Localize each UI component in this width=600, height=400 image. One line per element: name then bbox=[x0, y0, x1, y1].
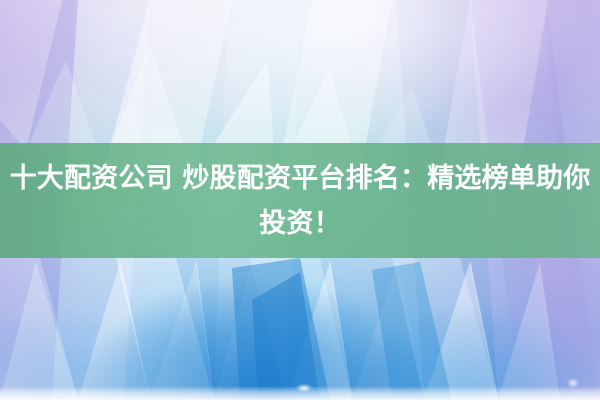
promo-banner: 十大配资公司 炒股配资平台排名：精选榜单助你投资！ bbox=[0, 0, 600, 400]
sparkle-glow-right-icon bbox=[562, 374, 584, 392]
page-title: 十大配资公司 炒股配资平台排名：精选榜单助你投资！ bbox=[0, 156, 600, 246]
headline-band: 十大配资公司 炒股配资平台排名：精选榜单助你投资！ bbox=[0, 143, 600, 258]
sparkle-glow-icon bbox=[292, 379, 316, 395]
